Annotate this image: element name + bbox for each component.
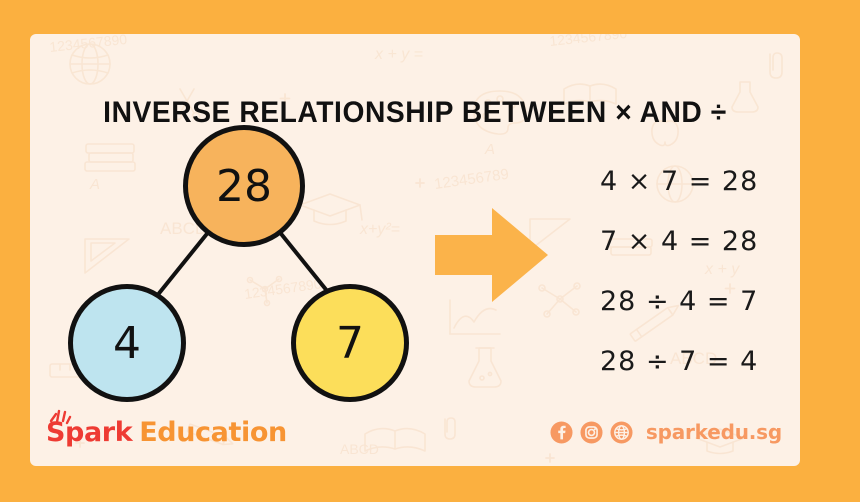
- social-links: sparkedu.sg: [550, 420, 782, 444]
- spark-starburst-icon: [48, 406, 72, 426]
- brand-logo[interactable]: Spark Education: [46, 417, 287, 448]
- infographic-canvas: ABCD ABCD ABCD 123456789 1234567890 1234…: [0, 0, 860, 502]
- instagram-icon[interactable]: [580, 421, 603, 444]
- part-node-left[interactable]: 4: [68, 284, 186, 402]
- total-node[interactable]: 28: [183, 125, 305, 247]
- svg-text:1234567890: 1234567890: [549, 34, 628, 49]
- website-handle[interactable]: sparkedu.sg: [646, 420, 782, 444]
- part-node-right[interactable]: 7: [291, 284, 409, 402]
- equation-list: 4 × 7 = 28 7 × 4 = 28 28 ÷ 4 = 7 28 ÷ 7 …: [600, 152, 800, 392]
- globe-icon[interactable]: [610, 421, 633, 444]
- equation-row: 28 ÷ 4 = 7: [600, 272, 800, 332]
- logo-word-education: Education: [139, 417, 287, 448]
- number-bond-diagram: 28 4 7: [30, 34, 490, 466]
- equation-row: 28 ÷ 7 = 4: [600, 332, 800, 392]
- bond-connector-lines: [30, 34, 490, 466]
- right-arrow-icon: [435, 205, 550, 305]
- equation-row: 7 × 4 = 28: [600, 212, 800, 272]
- content-card: ABCD ABCD ABCD 123456789 1234567890 1234…: [30, 34, 800, 466]
- equation-row: 4 × 7 = 28: [600, 152, 800, 212]
- facebook-icon[interactable]: [550, 421, 573, 444]
